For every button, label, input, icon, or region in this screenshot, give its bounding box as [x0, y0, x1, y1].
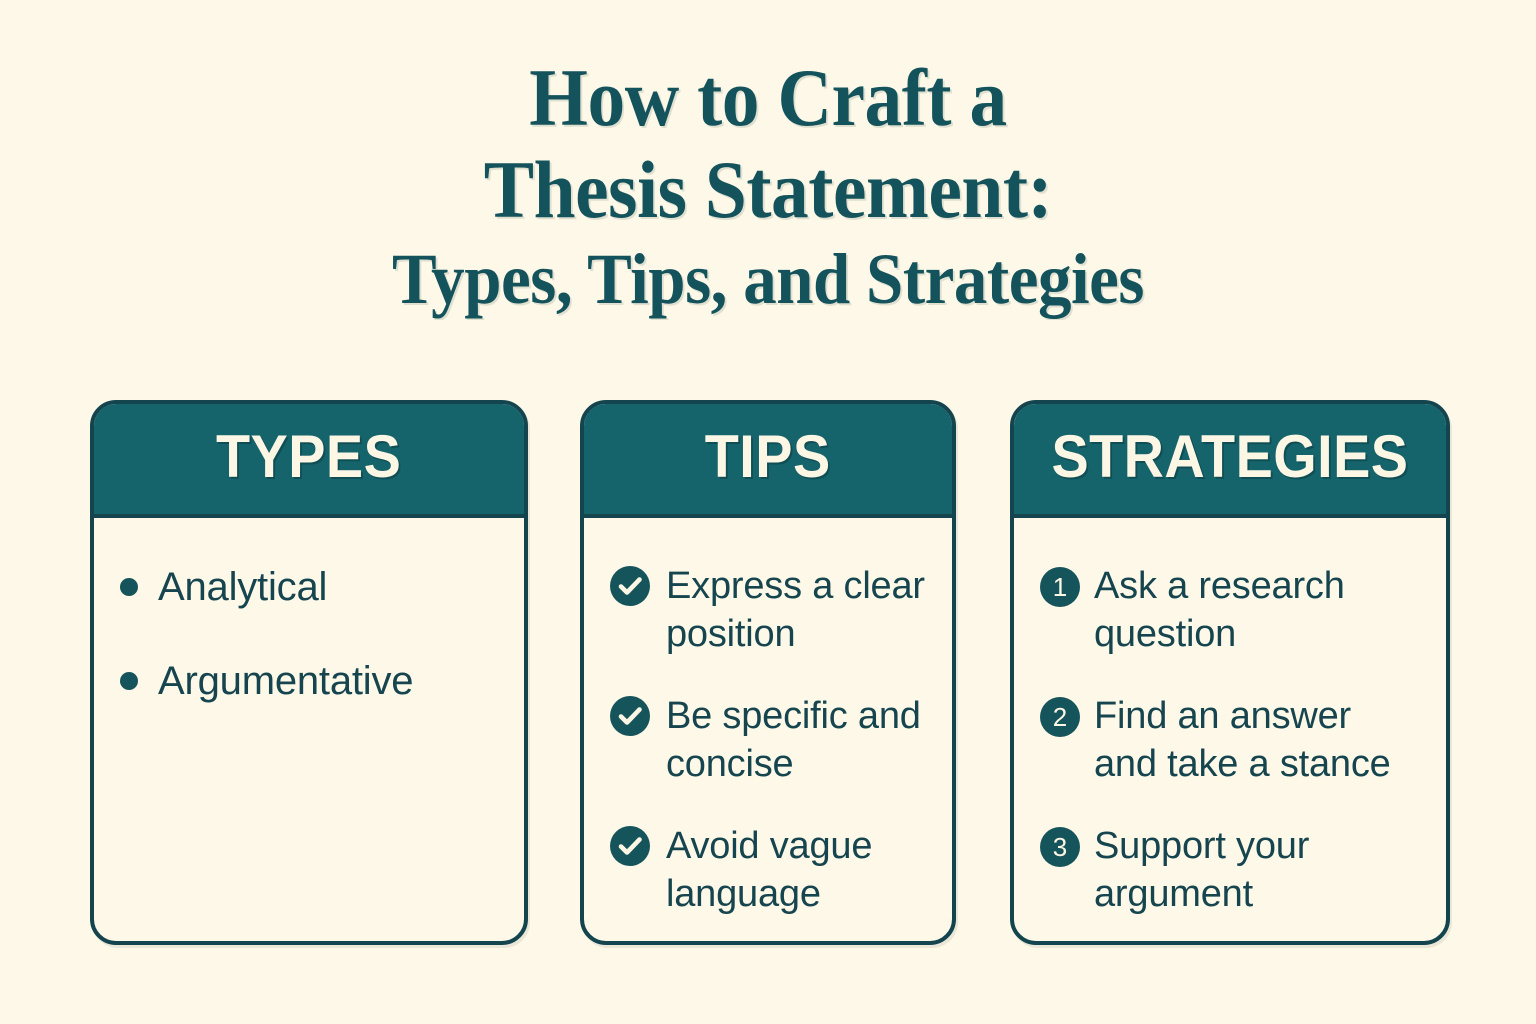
bullet-dot-icon: [120, 578, 138, 596]
check-circle-icon: [610, 696, 650, 736]
card-tips: TIPS Express a clear position Be specifi…: [580, 400, 956, 945]
list-item-label: Find an answer and take a stance: [1094, 692, 1420, 788]
check-circle-icon: [610, 566, 650, 606]
infographic-poster: How to Craft a Thesis Statement: Types, …: [0, 0, 1536, 1024]
list-item: 2 Find an answer and take a stance: [1040, 692, 1420, 788]
card-strategies-header: STRATEGIES: [1010, 400, 1450, 518]
number-badge-1-icon: 1: [1040, 567, 1080, 607]
list-item: Express a clear position: [610, 562, 926, 658]
card-tips-header-label: TIPS: [705, 427, 831, 487]
card-types-body: Analytical Argumentative: [94, 518, 524, 770]
card-strategies-header-label: STRATEGIES: [1051, 427, 1408, 487]
list-item-label: Support your argument: [1094, 822, 1420, 918]
card-strategies-body: 1 Ask a research question 2 Find an answ…: [1014, 518, 1446, 938]
card-types: TYPES Analytical Argumentative: [90, 400, 528, 945]
list-item-label: Argumentative: [158, 656, 413, 706]
poster-title-block: How to Craft a Thesis Statement: Types, …: [0, 52, 1536, 322]
card-strategies: STRATEGIES 1 Ask a research question 2 F…: [1010, 400, 1450, 945]
list-item-label: Be specific and concise: [666, 692, 926, 788]
list-item-label: Express a clear position: [666, 562, 926, 658]
title-line-2: Thesis Statement:: [61, 144, 1474, 236]
list-item-label: Avoid vague language: [666, 822, 926, 918]
card-types-header: TYPES: [90, 400, 528, 518]
list-item-label: Analytical: [158, 562, 327, 612]
list-item: Avoid vague language: [610, 822, 926, 918]
number-badge-3-icon: 3: [1040, 827, 1080, 867]
cards-row: TYPES Analytical Argumentative TIPS: [90, 400, 1450, 945]
list-item: 3 Support your argument: [1040, 822, 1420, 918]
list-item: Be specific and concise: [610, 692, 926, 788]
bullet-dot-icon: [120, 672, 138, 690]
list-item: 1 Ask a research question: [1040, 562, 1420, 658]
list-item-label: Ask a research question: [1094, 562, 1420, 658]
list-item: Analytical: [120, 562, 498, 612]
check-circle-icon: [610, 826, 650, 866]
card-types-header-label: TYPES: [216, 427, 401, 487]
card-tips-header: TIPS: [580, 400, 956, 518]
title-subtitle: Types, Tips, and Strategies: [54, 236, 1482, 322]
number-badge-2-icon: 2: [1040, 697, 1080, 737]
title-line-1: How to Craft a: [61, 52, 1474, 144]
card-tips-body: Express a clear position Be specific and…: [584, 518, 952, 938]
list-item: Argumentative: [120, 656, 498, 706]
